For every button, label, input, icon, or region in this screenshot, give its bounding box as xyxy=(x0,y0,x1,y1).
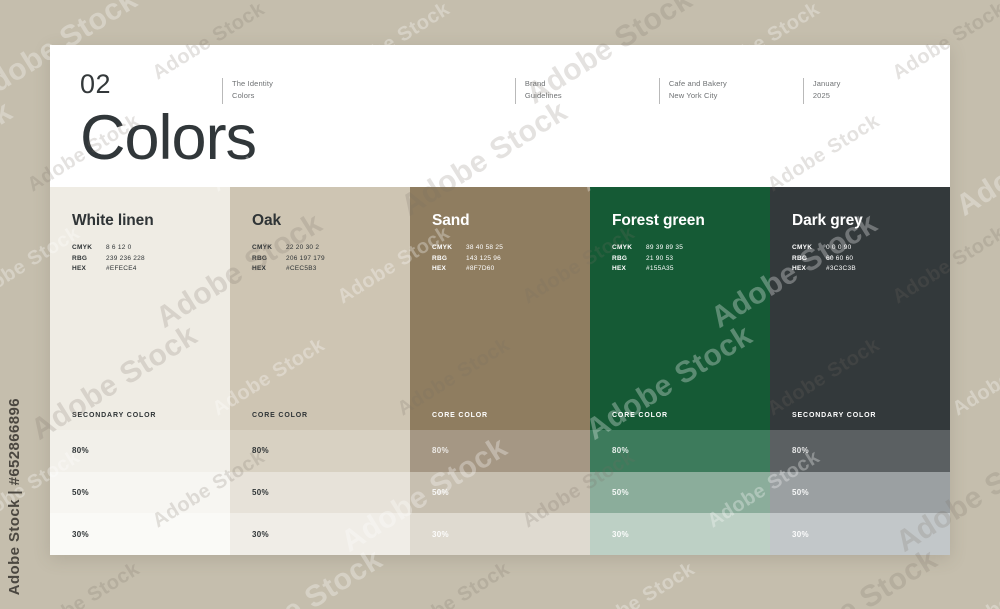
color-spec-list: CMYK8 6 12 0RBG239 236 228HEX#EFECE4 xyxy=(72,243,208,275)
color-role-label: CORE COLOR xyxy=(230,400,410,430)
watermark-tile: Adobe Stock xyxy=(394,558,515,609)
header-meta-text: The IdentityColors xyxy=(232,78,273,101)
spec-value-hex: #EFECE4 xyxy=(106,264,137,275)
spec-row-rgb: RBG60 60 60 xyxy=(792,254,928,265)
spec-label-rgb: RBG xyxy=(72,254,106,265)
color-role-label: SECONDARY COLOR xyxy=(770,400,950,430)
spec-value-rgb: 60 60 60 xyxy=(826,254,853,265)
stock-id-watermark: Adobe Stock | #652866896 xyxy=(6,398,23,595)
meta-line-1: Cafe and Bakery xyxy=(669,78,727,90)
spec-row-cmyk: CMYK38 40 58 25 xyxy=(432,243,568,254)
tint-row-50pct[interactable]: 50% xyxy=(410,472,590,514)
spec-value-hex: #CEC5B3 xyxy=(286,264,317,275)
spec-label-cmyk: CMYK xyxy=(252,243,286,254)
color-column-white-linen[interactable]: White linenCMYK8 6 12 0RBG239 236 228HEX… xyxy=(50,187,230,555)
color-spec-list: CMYK0 0 0 90RBG60 60 60HEX#3C3C3B xyxy=(792,243,928,275)
header-meta-row: The IdentityColorsBrandGuidelinesCafe an… xyxy=(222,78,922,104)
color-spec-list: CMYK89 39 89 35RBG21 90 53HEX#155A35 xyxy=(612,243,748,275)
meta-line-2: New York City xyxy=(669,90,727,102)
header-meta-text: BrandGuidelines xyxy=(525,78,562,101)
color-spec-list: CMYK38 40 58 25RBG143 125 96HEX#8F7D60 xyxy=(432,243,568,275)
spec-row-hex: HEX#3C3C3B xyxy=(792,264,928,275)
watermark-tile: Adobe Stock xyxy=(0,95,19,224)
color-role-label: SECONDARY COLOR xyxy=(50,400,230,430)
spec-row-hex: HEX#8F7D60 xyxy=(432,264,568,275)
tint-row-30pct[interactable]: 30% xyxy=(410,513,590,555)
color-swatch[interactable]: White linenCMYK8 6 12 0RBG239 236 228HEX… xyxy=(50,187,230,400)
meta-line-2: 2025 xyxy=(813,90,841,102)
spec-value-rgb: 143 125 96 xyxy=(466,254,501,265)
meta-line-1: The Identity xyxy=(232,78,273,90)
tint-row-30pct[interactable]: 30% xyxy=(590,513,770,555)
tint-row-80pct[interactable]: 80% xyxy=(50,430,230,472)
spec-row-hex: HEX#EFECE4 xyxy=(72,264,208,275)
spec-label-cmyk: CMYK xyxy=(792,243,826,254)
color-swatch-grid: White linenCMYK8 6 12 0RBG239 236 228HEX… xyxy=(50,187,950,555)
meta-line-1: January xyxy=(813,78,841,90)
color-name: Forest green xyxy=(612,212,748,229)
color-role-label: CORE COLOR xyxy=(410,400,590,430)
header-meta-0: The IdentityColors xyxy=(222,78,515,104)
header-meta-2: Cafe and BakeryNew York City xyxy=(659,78,803,104)
watermark-tile: Adobe Stock xyxy=(950,95,1000,224)
tint-row-30pct[interactable]: 30% xyxy=(50,513,230,555)
tint-row-30pct[interactable]: 30% xyxy=(230,513,410,555)
spec-row-cmyk: CMYK0 0 0 90 xyxy=(792,243,928,254)
spec-value-rgb: 206 197 179 xyxy=(286,254,325,265)
color-swatch[interactable]: OakCMYK22 20 30 2RBG206 197 179HEX#CEC5B… xyxy=(230,187,410,400)
header-meta-3: January2025 xyxy=(803,78,922,104)
spec-label-hex: HEX xyxy=(792,264,826,275)
tint-row-80pct[interactable]: 80% xyxy=(230,430,410,472)
meta-line-2: Colors xyxy=(232,90,273,102)
tint-row-50pct[interactable]: 50% xyxy=(230,472,410,514)
spec-value-hex: #8F7D60 xyxy=(466,264,495,275)
spec-value-cmyk: 8 6 12 0 xyxy=(106,243,132,254)
header-meta-text: Cafe and BakeryNew York City xyxy=(669,78,727,101)
spec-label-rgb: RBG xyxy=(792,254,826,265)
color-column-oak[interactable]: OakCMYK22 20 30 2RBG206 197 179HEX#CEC5B… xyxy=(230,187,410,555)
color-name: Sand xyxy=(432,212,568,229)
spec-row-cmyk: CMYK8 6 12 0 xyxy=(72,243,208,254)
spec-value-cmyk: 89 39 89 35 xyxy=(646,243,683,254)
tint-row-80pct[interactable]: 80% xyxy=(410,430,590,472)
spec-row-cmyk: CMYK22 20 30 2 xyxy=(252,243,388,254)
page-header: 02 Colors The IdentityColorsBrandGuideli… xyxy=(50,45,950,187)
meta-line-2: Guidelines xyxy=(525,90,562,102)
watermark-tile: Adobe Stock xyxy=(24,558,145,609)
color-column-sand[interactable]: SandCMYK38 40 58 25RBG143 125 96HEX#8F7D… xyxy=(410,187,590,555)
color-column-dark-grey[interactable]: Dark greyCMYK0 0 0 90RBG60 60 60HEX#3C3C… xyxy=(770,187,950,555)
spec-value-cmyk: 38 40 58 25 xyxy=(466,243,503,254)
spec-label-hex: HEX xyxy=(72,264,106,275)
color-role-label: CORE COLOR xyxy=(590,400,770,430)
spec-row-cmyk: CMYK89 39 89 35 xyxy=(612,243,748,254)
spec-label-rgb: RBG xyxy=(252,254,286,265)
brand-guideline-page-card: 02 Colors The IdentityColorsBrandGuideli… xyxy=(50,45,950,555)
color-spec-list: CMYK22 20 30 2RBG206 197 179HEX#CEC5B3 xyxy=(252,243,388,275)
spec-label-hex: HEX xyxy=(252,264,286,275)
header-meta-1: BrandGuidelines xyxy=(515,78,659,104)
spec-label-cmyk: CMYK xyxy=(72,243,106,254)
spec-value-cmyk: 22 20 30 2 xyxy=(286,243,319,254)
color-name: White linen xyxy=(72,212,208,229)
spec-label-cmyk: CMYK xyxy=(612,243,646,254)
spec-label-rgb: RBG xyxy=(612,254,646,265)
spec-row-rgb: RBG21 90 53 xyxy=(612,254,748,265)
spec-value-hex: #3C3C3B xyxy=(826,264,856,275)
header-meta-text: January2025 xyxy=(813,78,841,101)
color-swatch[interactable]: SandCMYK38 40 58 25RBG143 125 96HEX#8F7D… xyxy=(410,187,590,400)
spec-label-rgb: RBG xyxy=(432,254,466,265)
spec-row-hex: HEX#CEC5B3 xyxy=(252,264,388,275)
spec-label-cmyk: CMYK xyxy=(432,243,466,254)
color-name: Dark grey xyxy=(792,212,928,229)
tint-row-50pct[interactable]: 50% xyxy=(50,472,230,514)
tint-row-30pct[interactable]: 30% xyxy=(770,513,950,555)
color-swatch[interactable]: Dark greyCMYK0 0 0 90RBG60 60 60HEX#3C3C… xyxy=(770,187,950,400)
tint-row-50pct[interactable]: 50% xyxy=(770,472,950,514)
spec-label-hex: HEX xyxy=(612,264,646,275)
spec-value-rgb: 21 90 53 xyxy=(646,254,673,265)
spec-row-rgb: RBG206 197 179 xyxy=(252,254,388,265)
color-name: Oak xyxy=(252,212,388,229)
spec-row-rgb: RBG143 125 96 xyxy=(432,254,568,265)
color-column-forest-green[interactable]: Forest greenCMYK89 39 89 35RBG21 90 53HE… xyxy=(590,187,770,555)
spec-row-rgb: RBG239 236 228 xyxy=(72,254,208,265)
spec-value-rgb: 239 236 228 xyxy=(106,254,145,265)
watermark-tile: Adobe Stock xyxy=(949,558,1000,609)
spec-label-hex: HEX xyxy=(432,264,466,275)
spec-value-hex: #155A35 xyxy=(646,264,674,275)
page-title: Colors xyxy=(80,107,920,170)
meta-line-1: Brand xyxy=(525,78,562,90)
watermark-tile: Adobe Stock xyxy=(579,558,700,609)
spec-value-cmyk: 0 0 0 90 xyxy=(826,243,852,254)
color-swatch[interactable]: Forest greenCMYK89 39 89 35RBG21 90 53HE… xyxy=(590,187,770,400)
tint-row-50pct[interactable]: 50% xyxy=(590,472,770,514)
watermark-tile: Adobe Stock xyxy=(949,334,1000,421)
tint-row-80pct[interactable]: 80% xyxy=(590,430,770,472)
tint-row-80pct[interactable]: 80% xyxy=(770,430,950,472)
spec-row-hex: HEX#155A35 xyxy=(612,264,748,275)
